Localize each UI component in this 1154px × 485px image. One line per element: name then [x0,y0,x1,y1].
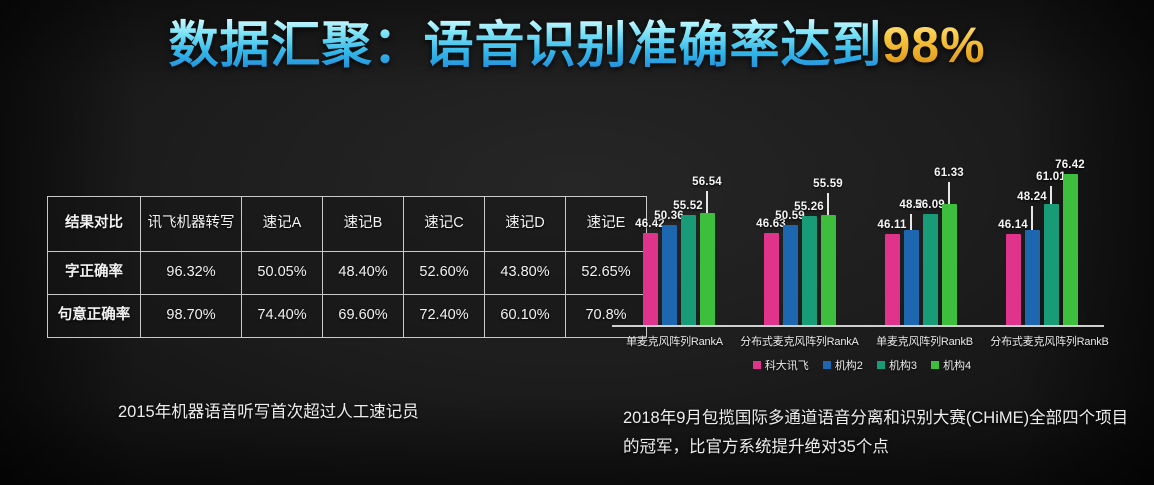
chart-x-tick-label: 单麦克风阵列RankB [862,333,987,349]
table-header-cell-4: 速记C [404,197,485,252]
chart-bar-value-label: 61.33 [934,167,964,179]
legend-swatch-icon [823,361,831,369]
legend-swatch-icon [753,361,761,369]
legend-swatch-icon [931,361,939,369]
presentation-slide: 数据汇聚：语音识别准确率达到98% 结果对比 讯飞机器转写 速记A 速记B 速记… [0,0,1154,485]
chart-bar-value-label: 76.42 [1055,159,1085,171]
chart-bar-cell: 46.63 [764,150,779,325]
table-cell-0-1: 50.05% [242,252,323,295]
chart-bar[interactable] [802,216,817,325]
table-cell-0-4: 43.80% [485,252,566,295]
table-cell-1-4: 60.10% [485,295,566,338]
chart-error-bar [706,191,708,213]
chart-x-tick-label: 分布式麦克风阵列RankB [987,333,1112,349]
table-header-cell-0: 结果对比 [48,197,141,252]
chart-group: 46.4250.3655.5256.54 [618,150,739,325]
chart-x-tick-label: 分布式麦克风阵列RankA [737,333,862,349]
title-accent-text: 98% [882,17,985,73]
chart-bar-cell: 50.36 [662,150,677,325]
chart-bar-cell: 76.42 [1063,150,1078,325]
chart-group: 46.6350.5955.2655.59 [739,150,860,325]
legend-label: 机构3 [889,357,917,373]
slide-title-container: 数据汇聚：语音识别准确率达到98% [0,18,1154,73]
chart-bar[interactable] [643,233,658,325]
table-header-cell-3: 速记B [323,197,404,252]
chart-bar-cell: 61.33 [942,150,957,325]
chart-bar-value-label: 48.24 [1017,191,1047,203]
table-header-cell-5: 速记D [485,197,566,252]
chart-legend: 科大讯飞机构2机构3机构4 [612,357,1112,373]
chart-bar-value-label: 56.09 [915,199,945,211]
table-cell-1-2: 69.60% [323,295,404,338]
table-cell-1-0: 98.70% [141,295,242,338]
chart-x-axis-line [612,325,1104,327]
chart-bar[interactable] [681,215,696,325]
chart-bar-value-label: 56.54 [692,176,722,188]
bar-chart: 46.4250.3655.5256.5446.6350.5955.2655.59… [612,150,1112,365]
chart-legend-item[interactable]: 机构2 [823,357,863,373]
table-cell-1-1: 74.40% [242,295,323,338]
chart-bar-cell: 55.26 [802,150,817,325]
chart-bar-cell: 46.11 [885,150,900,325]
chart-bar-value-label: 46.11 [877,219,906,231]
caption-right: 2018年9月包揽国际多通道语音分离和识别大赛(CHiME)全部四个项目的冠军，… [623,404,1133,462]
table-header: 结果对比 讯飞机器转写 速记A 速记B 速记C 速记D 速记E [48,197,647,252]
legend-label: 机构4 [943,357,971,373]
table-row: 字正确率 96.32% 50.05% 48.40% 52.60% 43.80% … [48,252,647,295]
chart-bar[interactable] [885,234,900,325]
comparison-table-container: 结果对比 讯飞机器转写 速记A 速记B 速记C 速记D 速记E 字正确率 96.… [47,196,547,338]
chart-legend-item[interactable]: 机构3 [877,357,917,373]
table-cell-0-2: 48.40% [323,252,404,295]
chart-bar-cell: 56.54 [700,150,715,325]
title-main-text: 数据汇聚：语音识别准确率达到 [168,17,882,73]
chart-bar[interactable] [821,215,836,325]
chart-bar[interactable] [662,225,677,325]
chart-bar[interactable] [1006,234,1021,325]
table-header-cell-1: 讯飞机器转写 [141,197,242,252]
legend-label: 科大讯飞 [765,357,809,373]
chart-legend-item[interactable]: 科大讯飞 [753,357,809,373]
table-header-row: 结果对比 讯飞机器转写 速记A 速记B 速记C 速记D 速记E [48,197,647,252]
chart-x-tick-label: 单麦克风阵列RankA [612,333,737,349]
chart-bar-cell: 46.14 [1006,150,1021,325]
chart-bar[interactable] [700,213,715,325]
chart-error-bar [827,193,829,215]
chart-bar-groups: 46.4250.3655.5256.5446.6350.5955.2655.59… [618,150,1102,325]
table-header-cell-2: 速记A [242,197,323,252]
legend-swatch-icon [877,361,885,369]
chart-bar-cell: 55.59 [821,150,836,325]
chart-error-bar [948,182,950,204]
chart-group: 46.1148.256.0961.33 [860,150,981,325]
chart-bar-cell: 50.59 [783,150,798,325]
chart-error-bar [1031,206,1033,230]
table-cell-0-3: 52.60% [404,252,485,295]
chart-bar[interactable] [904,230,919,325]
table-row-label-1: 句意正确率 [48,295,141,338]
table-cell-0-0: 96.32% [141,252,242,295]
chart-bar[interactable] [942,204,957,325]
chart-group: 46.1448.2461.0176.42 [981,150,1102,325]
legend-label: 机构2 [835,357,863,373]
chart-bar[interactable] [923,214,938,325]
page-title: 数据汇聚：语音识别准确率达到98% [168,18,985,73]
table-row: 句意正确率 98.70% 74.40% 69.60% 72.40% 60.10%… [48,295,647,338]
chart-bar[interactable] [783,225,798,325]
chart-bar[interactable] [764,233,779,325]
chart-bar[interactable] [1063,174,1078,325]
comparison-table: 结果对比 讯飞机器转写 速记A 速记B 速记C 速记D 速记E 字正确率 96.… [47,196,647,338]
chart-bar-value-label: 55.59 [813,178,843,190]
table-cell-1-3: 72.40% [404,295,485,338]
chart-plot-area: 46.4250.3655.5256.5446.6350.5955.2655.59… [612,150,1112,327]
chart-bar-cell: 48.2 [904,150,919,325]
chart-x-axis-labels: 单麦克风阵列RankA分布式麦克风阵列RankA单麦克风阵列RankB分布式麦克… [612,333,1112,349]
chart-bar[interactable] [1025,230,1040,325]
chart-bar-value-label: 55.26 [794,201,824,213]
chart-error-bar [1050,186,1052,204]
chart-bar-value-label: 46.14 [998,219,1028,231]
chart-bar[interactable] [1044,204,1059,325]
chart-error-bar [910,214,912,230]
chart-bar-value-label: 61.01 [1036,171,1066,183]
chart-bar-cell: 46.42 [643,150,658,325]
table-body: 字正确率 96.32% 50.05% 48.40% 52.60% 43.80% … [48,252,647,338]
caption-left: 2015年机器语音听写首次超过人工速记员 [118,398,419,422]
table-row-label-0: 字正确率 [48,252,141,295]
chart-legend-item[interactable]: 机构4 [931,357,971,373]
chart-bar-value-label: 55.52 [673,200,703,212]
chart-bar-cell: 61.01 [1044,150,1059,325]
